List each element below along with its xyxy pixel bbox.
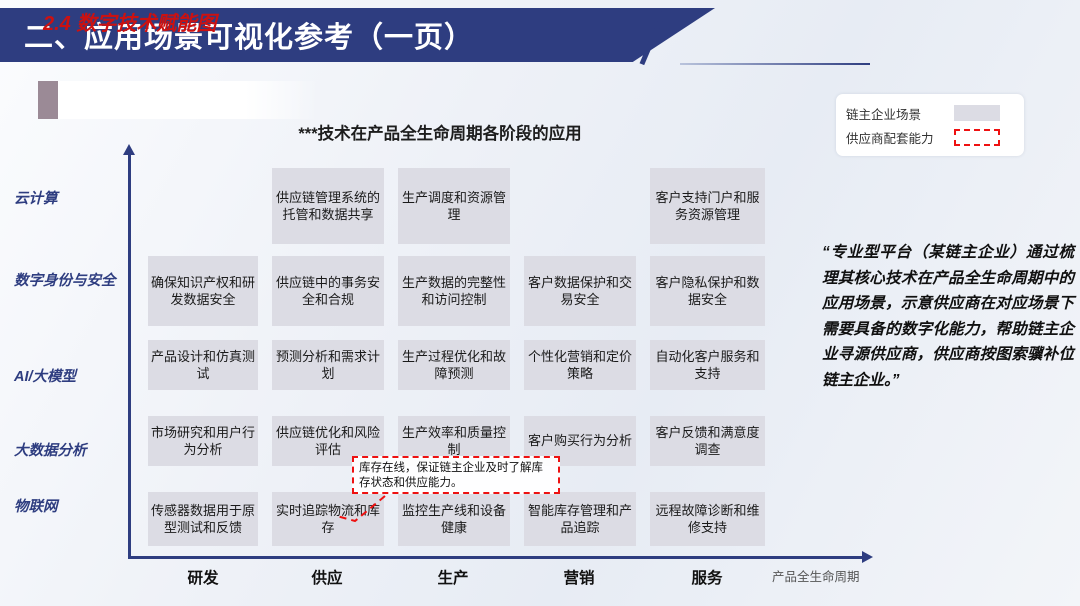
x-axis-label-4: 服务 [647,566,767,588]
section-title-bar [38,81,318,119]
matrix-cell: 客户反馈和满意度调查 [650,416,765,466]
side-quote-text: “专业型平台（某链主企业）通过梳理其核心技术在产品全生命周期中的应用场景，示意供… [822,240,1074,393]
x-axis-label-2: 生产 [393,566,513,588]
y-axis-line [128,152,131,558]
matrix-cell: 智能库存管理和产品追踪 [524,492,636,546]
x-axis-label-0: 研发 [143,566,263,588]
legend-item-supplier: 供应商配套能力 [846,125,1014,149]
matrix-cell: 确保知识产权和研发数据安全 [148,256,258,326]
matrix-cell: 生产调度和资源管理 [398,168,510,244]
matrix-cell: 客户隐私保护和数据安全 [650,256,765,326]
legend-label: 供应商配套能力 [846,128,954,147]
matrix-cell: 客户支持门户和服务资源管理 [650,168,765,244]
matrix-cell: 远程故障诊断和维修支持 [650,492,765,546]
matrix-cell: 监控生产线和设备健康 [398,492,510,546]
section-accent-block [38,81,58,119]
y-axis-label-1: 数字身份与安全 [14,272,120,290]
matrix-cell: 个性化营销和定价策略 [524,340,636,390]
x-axis-label-3: 营销 [519,566,639,588]
x-axis-arrow-icon [862,551,873,563]
legend-label: 链主企业场景 [846,104,954,123]
legend-box: 链主企业场景 供应商配套能力 [836,94,1024,156]
matrix-cell: 传感器数据用于原型测试和反馈 [148,492,258,546]
matrix-cell: 生产数据的完整性和访问控制 [398,256,510,326]
legend-item-chain-leader: 链主企业场景 [846,101,1014,125]
matrix-cell: 客户数据保护和交易安全 [524,256,636,326]
header-underline-rule [680,63,870,65]
matrix-cell: 供应链管理系统的托管和数据共享 [272,168,384,244]
callout-leader-line [335,494,387,526]
matrix-cell: 预测分析和需求计划 [272,340,384,390]
x-axis-line [128,556,865,559]
legend-swatch-solid-icon [954,105,1000,121]
y-axis-arrow-icon [123,144,135,155]
matrix-cell: 供应链中的事务安全和合规 [272,256,384,326]
legend-swatch-dashed-icon [954,129,1000,146]
section-title-label: 2.4 数字技术赋能图 [43,7,216,36]
matrix-cell: 市场研究和用户行为分析 [148,416,258,466]
y-axis-label-2: AI/大模型 [14,368,120,386]
callout-annotation: 库存在线，保证链主企业及时了解库存状态和供应能力。 [352,456,560,494]
y-axis-label-4: 物联网 [14,498,120,516]
matrix-cell: 生产过程优化和故障预测 [398,340,510,390]
x-axis-label: 产品全生命周期 [772,566,860,585]
y-axis-label-3: 大数据分析 [14,442,120,460]
y-axis-label-0: 云计算 [14,190,120,208]
matrix-cell: 自动化客户服务和支持 [650,340,765,390]
x-axis-label-1: 供应 [267,566,387,588]
matrix-cell: 产品设计和仿真测试 [148,340,258,390]
chart-title: ***技术在产品全生命周期各阶段的应用 [180,120,700,144]
